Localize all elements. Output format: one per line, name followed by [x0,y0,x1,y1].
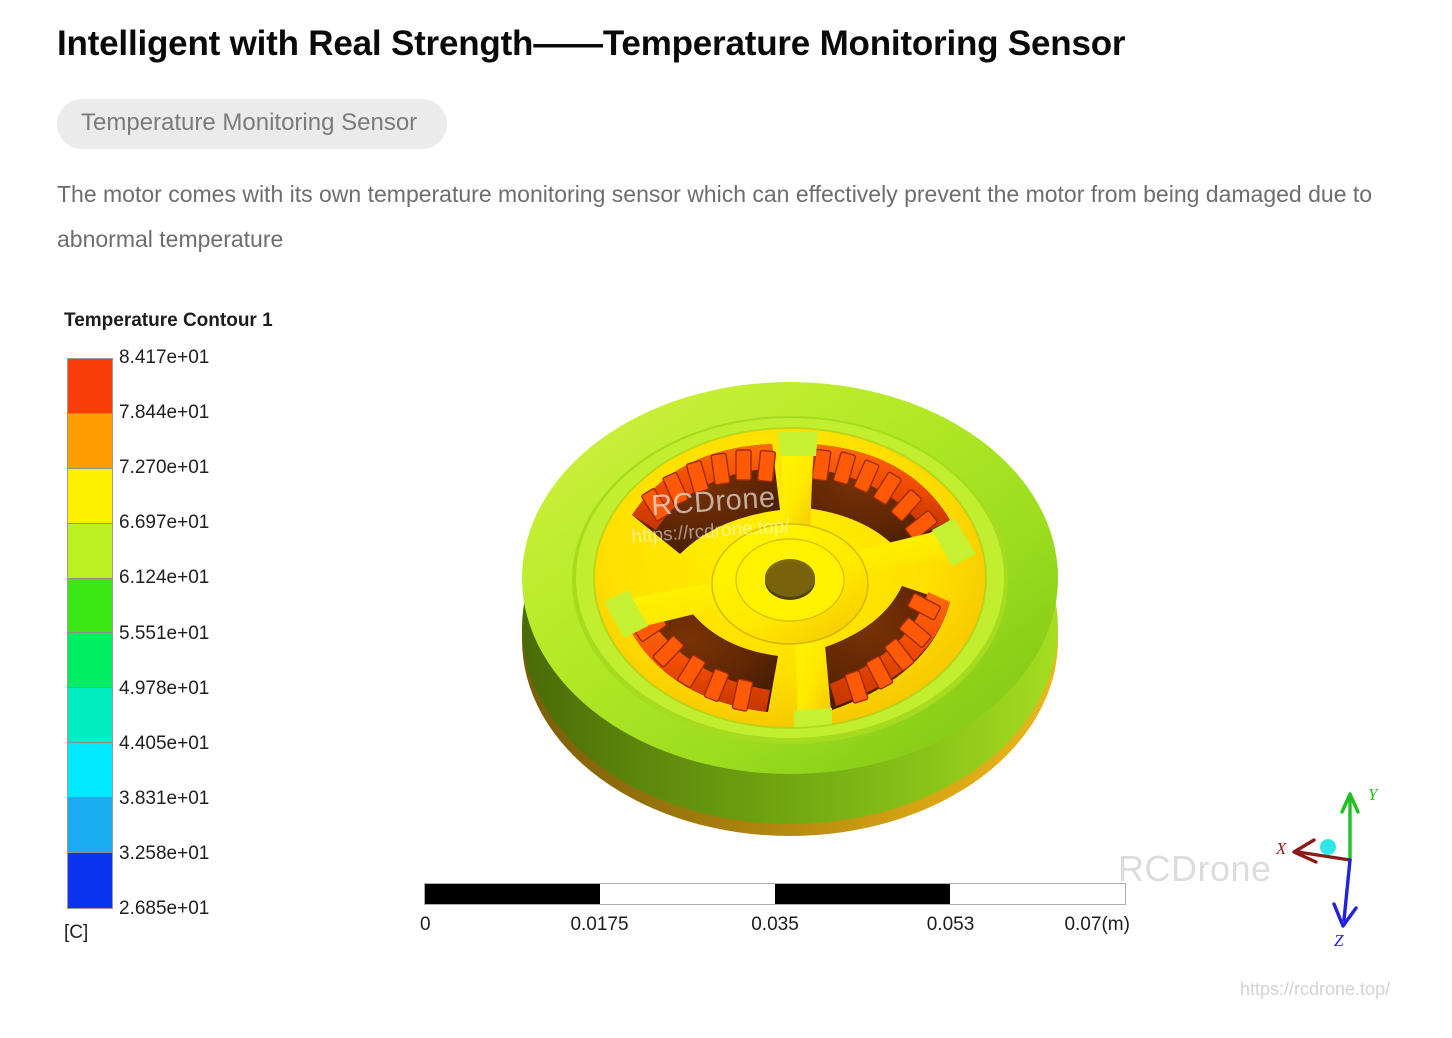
legend-band [68,688,112,743]
scale-bar-group: 00.01750.0350.0530.07(m) [424,883,1126,944]
scale-bar-tick-label: 0.053 [927,914,975,936]
legend-band [68,798,112,853]
scale-bar-segment [950,884,1125,904]
legend-band [68,633,112,688]
legend-band [68,414,112,469]
legend-tick-label: 6.124e+01 [119,567,209,589]
legend-tick-label: 7.844e+01 [119,402,209,424]
axis-label-z: Z [1334,931,1344,950]
legend-tick-labels: 8.417e+017.844e+017.270e+016.697e+016.12… [119,358,309,909]
corner-watermark: RCDrone [1118,848,1272,890]
legend-band [68,359,112,414]
scale-bar-tick-label: 0.07(m) [1064,914,1129,936]
legend-title: Temperature Contour 1 [64,310,273,332]
body-description: The motor comes with its own temperature… [57,172,1427,262]
footer-url: https://rcdrone.top/ [1240,979,1390,1000]
axis-triad: Y X Z [1272,782,1412,952]
axis-label-y: Y [1368,785,1379,804]
scale-bar-tick-label: 0.035 [751,914,799,936]
legend-tick-label: 8.417e+01 [119,347,209,369]
legend-color-bar [67,358,113,909]
legend-band [68,853,112,908]
scale-bar-segment [600,884,775,904]
section-tag-pill: Temperature Monitoring Sensor [57,99,447,149]
legend-tick-label: 4.978e+01 [119,678,209,700]
legend-tick-label: 3.831e+01 [119,788,209,810]
origin-dot [1320,839,1336,855]
scale-bar-ticks: 00.01750.0350.0530.07(m) [424,914,1126,944]
scale-bar [424,883,1126,905]
legend-tick-label: 6.697e+01 [119,512,209,534]
legend-band [68,524,112,579]
page-title: Intelligent with Real Strength——Temperat… [57,24,1125,64]
legend-tick-label: 2.685e+01 [119,898,209,920]
legend-tick-label: 4.405e+01 [119,733,209,755]
scale-bar-segment [425,884,600,904]
scale-bar-tick-label: 0.0175 [570,914,628,936]
legend-tick-label: 5.551e+01 [119,623,209,645]
scale-bar-tick-label: 0 [420,914,431,936]
motor-contour-render [480,340,1100,880]
legend-tick-label: 3.258e+01 [119,843,209,865]
scale-bar-segment [775,884,950,904]
axis-label-x: X [1275,839,1287,858]
legend-band [68,579,112,634]
legend-band [68,743,112,798]
page-root: Intelligent with Real Strength——Temperat… [0,0,1452,1038]
section-tag-label: Temperature Monitoring Sensor [81,109,417,136]
legend-tick-label: 7.270e+01 [119,457,209,479]
legend-unit-label: [C] [64,922,88,944]
legend-band [68,469,112,524]
